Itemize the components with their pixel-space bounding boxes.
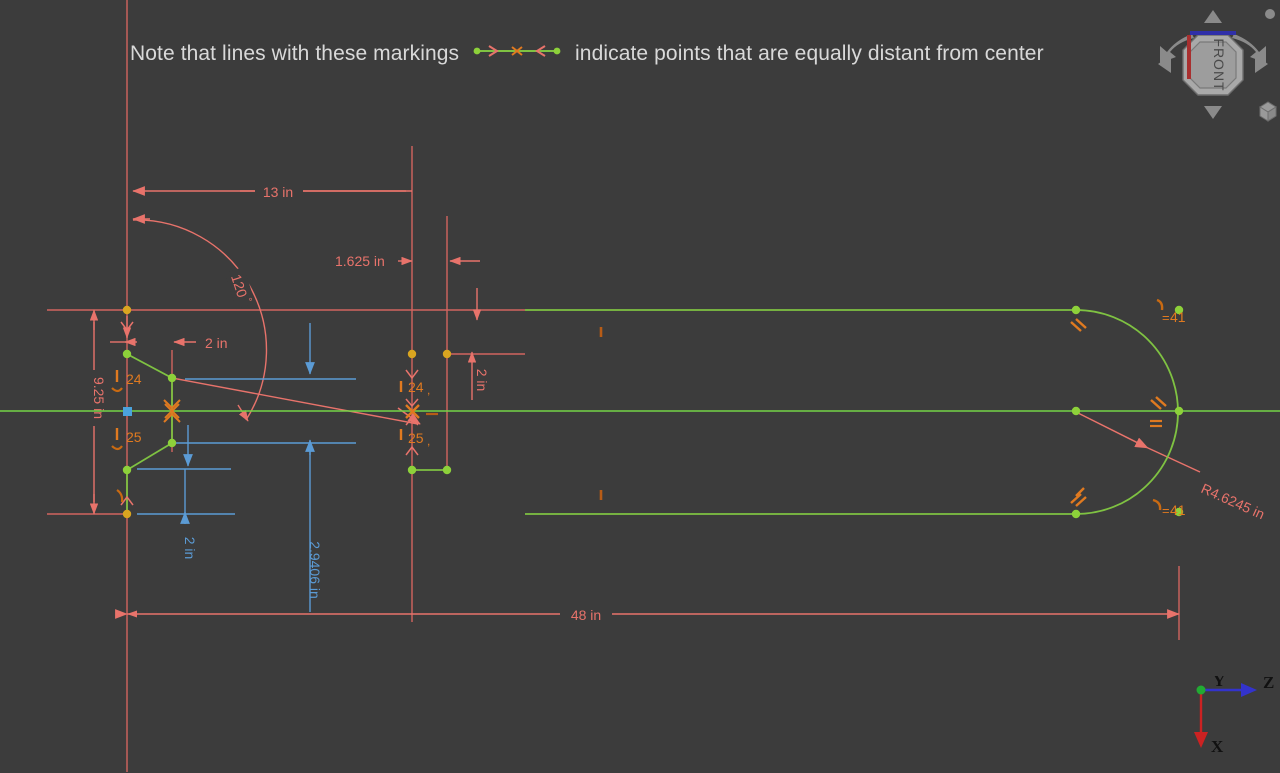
up-arrow[interactable] [1204,10,1222,23]
constraint-25-mid[interactable]: 25 , [401,429,430,448]
constraint-tangent-1[interactable] [1071,319,1086,331]
constraint-equal-mid[interactable] [1150,421,1162,426]
sketch-viewport[interactable]: 13 in 120 ° 1.625 in [0,0,1280,772]
options-dot-icon[interactable] [1265,9,1275,19]
dim-925in[interactable]: 9.25 in [84,310,107,514]
dim-angle-120[interactable]: 120 ° [133,219,420,424]
sketch-points[interactable] [123,306,1183,518]
y-axis-label: Y [1213,676,1225,690]
dim-2in-top-label: 2 in [205,335,228,351]
dim-29406in[interactable]: 2.9406 in [307,440,323,612]
constraint-radius-41-bottom-prefix: = [1162,503,1170,518]
symmetry-marker-legend [471,40,563,64]
dim-48in-label: 48 in [571,607,601,623]
constraint-radius-41-bottom[interactable]: = 41 [1153,500,1186,518]
note-text-after: indicate points that are equally distant… [575,42,1044,65]
constraint-radius-41-top-label: 41 [1170,309,1186,325]
dim-29406in-label: 2.9406 in [307,541,323,599]
down-arrow[interactable] [1204,106,1222,119]
dim-13in[interactable]: 13 in [133,181,412,201]
home-cube-icon[interactable] [1260,102,1276,121]
constraint-radius-41-top-prefix: = [1162,310,1170,325]
constraint-25-mid-label: 25 [408,430,424,446]
dim-angle-label: 120 [228,272,251,299]
constraint-arc-left-bottom[interactable] [117,490,122,502]
x-axis-label: X [1211,737,1224,756]
constraint-24-label: 24 [126,371,142,387]
constraint-24-mid-label: 24 [408,379,424,395]
dim-13in-label: 13 in [263,184,293,200]
constraint-25-label: 25 [126,429,142,445]
z-axis-label: Z [1263,676,1274,692]
view-cube[interactable]: FRONT [1148,2,1278,127]
sketch-geometry-layer: 13 in 120 ° 1.625 in [0,0,1280,772]
dim-1625in-label: 1.625 in [335,253,385,269]
origin-point [1197,686,1206,695]
x-axis-arrow [1194,732,1208,748]
constraint-radius-41-top[interactable]: = 41 [1157,300,1186,325]
constraint-24-mid[interactable]: 24 , [401,379,430,397]
dim-radius-label: R4.6245 in [1199,480,1267,522]
dim-2in-vertical[interactable]: 2 in [472,352,490,400]
constraint-radius-41-bottom-label: 41 [1170,502,1186,518]
dim-2in-vertical-label: 2 in [474,369,490,392]
z-axis-arrow [1241,683,1257,697]
view-cube-face-label: FRONT [1211,38,1227,91]
constraint-glyphs[interactable]: 24 25 24 , 25 , = [112,300,1186,518]
constraint-24-mid-comma: , [427,383,430,397]
note-annotation: Note that lines with these markings indi… [130,42,1044,66]
dim-2in-blue-label: 2 in [182,537,198,560]
axis-triad: Y Z X [1185,676,1280,768]
constraint-tangent-2[interactable] [1071,494,1086,506]
dim-48in[interactable]: 48 in [127,604,1179,624]
constraint-tangent-3[interactable] [1151,397,1166,409]
sketch-profile-geometry[interactable] [127,310,1178,514]
dim-925in-label: 9.25 in [91,377,107,419]
constraint-25-mid-comma: , [427,434,430,448]
note-text-before: Note that lines with these markings [130,42,459,65]
